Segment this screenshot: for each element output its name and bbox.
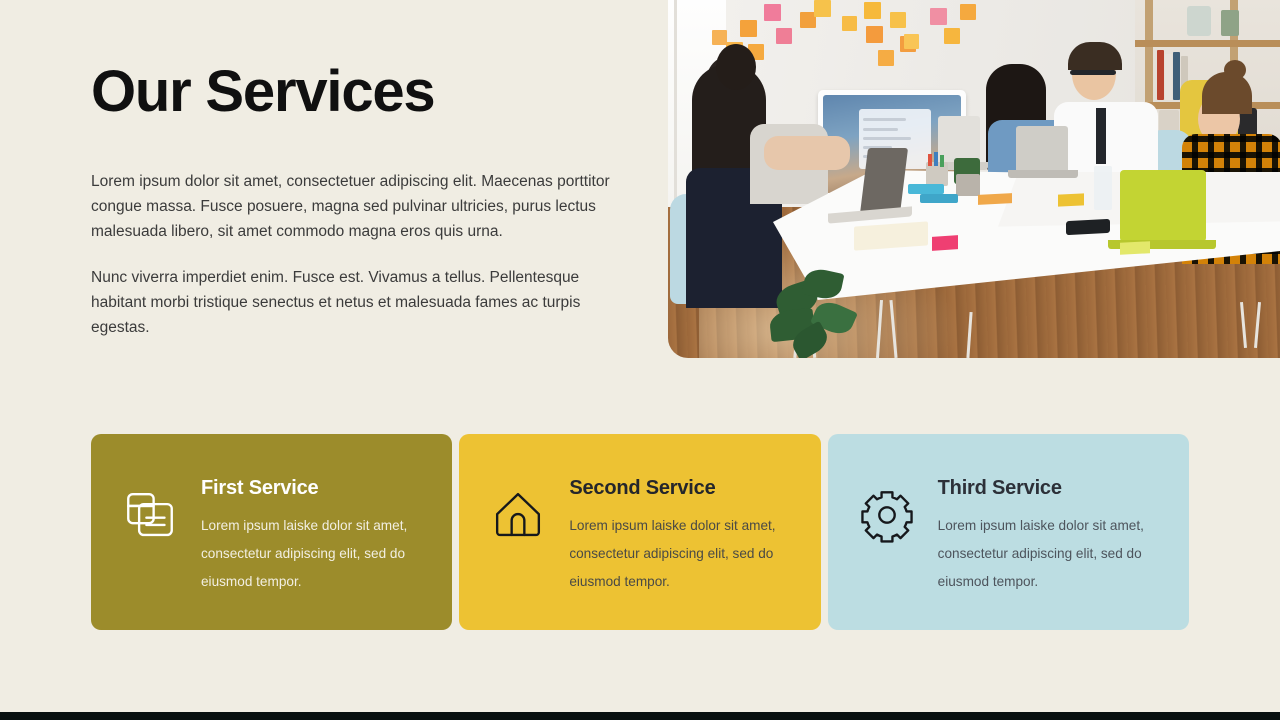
sticky-note xyxy=(890,12,906,28)
card-title: First Service xyxy=(201,476,426,500)
sticky-note xyxy=(842,16,857,31)
photo-sticky-note xyxy=(1058,193,1084,206)
sticky-note xyxy=(814,0,831,17)
body-paragraph-2: Nunc viverra imperdiet enim. Fusce est. … xyxy=(91,266,626,340)
sticky-note xyxy=(866,26,883,43)
sticky-note xyxy=(944,28,960,44)
sticky-note xyxy=(776,28,792,44)
text-column: Our Services Lorem ipsum dolor sit amet,… xyxy=(91,60,636,341)
photo-phone xyxy=(1066,219,1110,235)
photo-sticky-note xyxy=(978,193,1012,205)
service-card-first[interactable]: First Service Lorem ipsum laiske dolor s… xyxy=(91,434,452,630)
page-title: Our Services xyxy=(91,60,636,124)
photo-plant xyxy=(766,266,876,358)
photo-pen xyxy=(928,154,932,166)
photo-glass xyxy=(1094,166,1112,210)
documents-icon xyxy=(121,486,179,544)
service-card-second[interactable]: Second Service Lorem ipsum laiske dolor … xyxy=(459,434,820,630)
sticky-note xyxy=(878,50,894,66)
card-title: Third Service xyxy=(938,476,1163,500)
photo-desk-item xyxy=(908,184,944,194)
card-text: Second Service Lorem ipsum laiske dolor … xyxy=(569,472,794,596)
photo-pen xyxy=(940,155,944,167)
gear-icon xyxy=(858,486,916,544)
card-description: Lorem ipsum laiske dolor sit amet, conse… xyxy=(938,512,1163,596)
photo-pot xyxy=(956,174,980,196)
service-cards: First Service Lorem ipsum laiske dolor s… xyxy=(91,434,1189,630)
sticky-note xyxy=(740,20,757,37)
home-icon xyxy=(489,486,547,544)
photo-sticky-note xyxy=(1120,241,1150,255)
sticky-note xyxy=(864,2,881,19)
body-paragraph-1: Lorem ipsum dolor sit amet, consectetuer… xyxy=(91,170,623,244)
sticky-note xyxy=(930,8,947,25)
photo-pen xyxy=(934,152,938,166)
service-card-third[interactable]: Third Service Lorem ipsum laiske dolor s… xyxy=(828,434,1189,630)
bottom-bar xyxy=(0,712,1280,720)
card-description: Lorem ipsum laiske dolor sit amet, conse… xyxy=(201,512,426,596)
sticky-note xyxy=(764,4,781,21)
sticky-note xyxy=(904,34,919,49)
sticky-note xyxy=(712,30,727,45)
slide: Our Services Lorem ipsum dolor sit amet,… xyxy=(0,0,1280,720)
card-text: First Service Lorem ipsum laiske dolor s… xyxy=(201,472,426,596)
team-meeting-photo xyxy=(668,0,1280,358)
card-text: Third Service Lorem ipsum laiske dolor s… xyxy=(938,472,1163,596)
photo-desk-item xyxy=(920,194,958,203)
photo-sticky-note xyxy=(932,235,958,251)
card-title: Second Service xyxy=(569,476,794,500)
card-description: Lorem ipsum laiske dolor sit amet, conse… xyxy=(569,512,794,596)
sticky-note xyxy=(960,4,976,20)
